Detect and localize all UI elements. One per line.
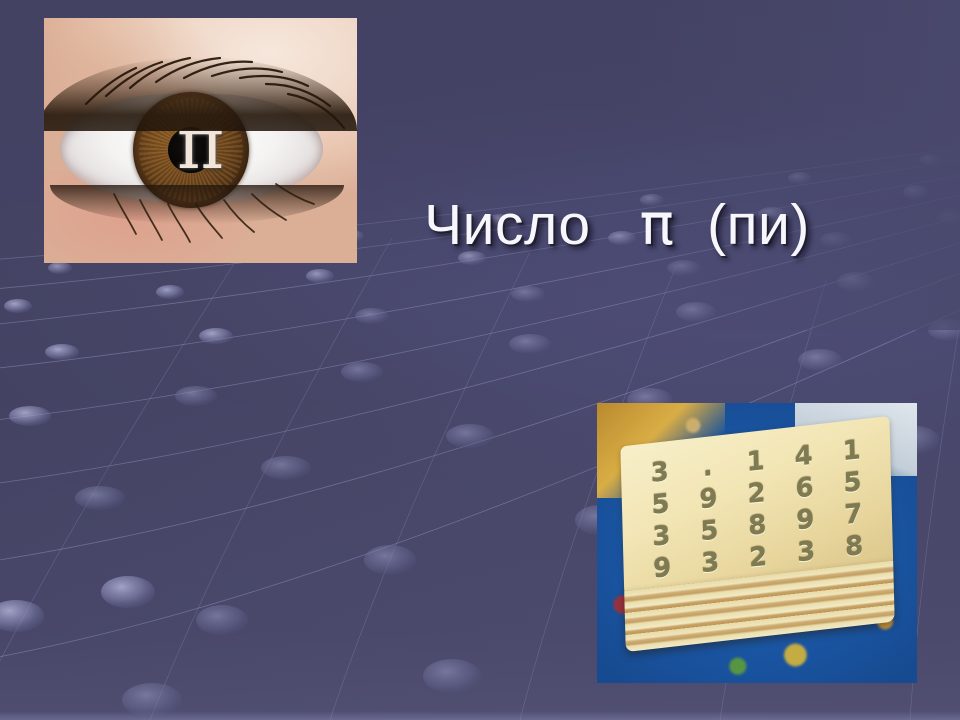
slide-title-reading: (пи) (707, 193, 810, 257)
pi-digit: 5 (829, 466, 875, 500)
eye-pupil (168, 127, 214, 173)
pi-digit: 8 (734, 509, 780, 543)
pi-digit: . (684, 451, 730, 485)
pi-digit: 3 (783, 535, 829, 569)
slide-title-pi-symbol: π (640, 192, 675, 258)
pi-digit: 2 (735, 541, 781, 575)
pastry-cake: 3 . 1 4 1 5 9 2 6 5 3 5 8 9 7 9 3 2 3 8 (620, 416, 894, 648)
pi-digit: 7 (830, 498, 876, 532)
eye-image: π (44, 18, 357, 263)
pi-digit: 5 (637, 488, 683, 522)
pi-digit: 3 (637, 456, 683, 490)
pi-digit-cutouts: 3 . 1 4 1 5 9 2 6 5 3 5 8 9 7 9 3 2 3 8 (637, 434, 877, 586)
pi-digit: 1 (828, 434, 874, 468)
pi-digit: 9 (685, 483, 731, 517)
pi-digit: 2 (733, 477, 779, 511)
pi-cake-image: 3 . 1 4 1 5 9 2 6 5 3 5 8 9 7 9 3 2 3 8 (597, 403, 917, 683)
pi-digit: 8 (831, 530, 877, 564)
slide-bottom-edge (0, 711, 960, 720)
slide-title: Число π (пи) (382, 193, 852, 259)
pi-digit: 6 (781, 472, 827, 506)
pi-digit: 3 (638, 520, 684, 554)
slide-title-word: Число (424, 193, 590, 257)
pi-digit: 1 (732, 445, 778, 479)
pi-digit: 5 (686, 514, 732, 548)
slide-canvas: π (0, 0, 960, 720)
pi-digit: 3 (687, 546, 733, 580)
pi-digit: 4 (780, 440, 826, 474)
pi-digit: 9 (782, 504, 828, 538)
pi-digit: 9 (639, 552, 685, 586)
